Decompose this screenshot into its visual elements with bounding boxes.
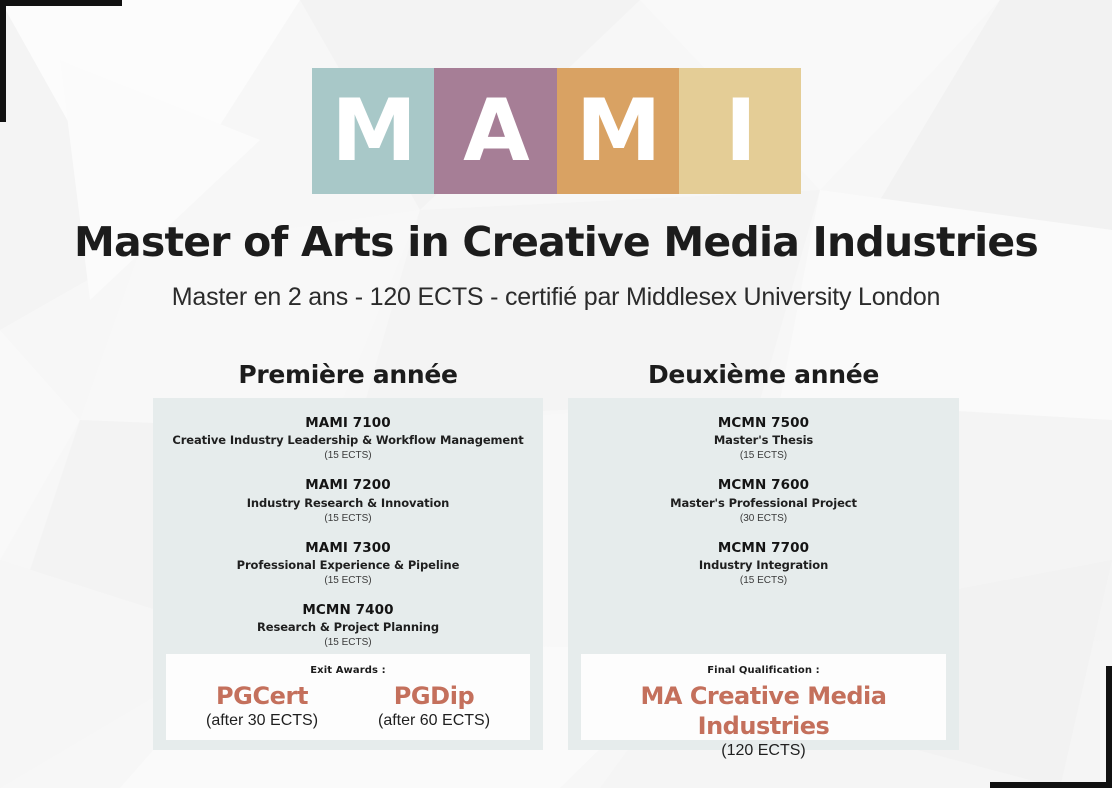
course-name: Creative Industry Leadership & Workflow …: [153, 432, 543, 448]
exit-awards-caption: Exit Awards :: [166, 654, 530, 676]
final-qualification-name: MA Creative Media Industries: [581, 676, 946, 741]
logo-tile-3: M: [557, 68, 679, 194]
exit-awards-row: PGCert (after 30 ECTS) PGDip (after 60 E…: [166, 676, 530, 732]
exit-award-pgcert-name: PGCert: [176, 681, 348, 711]
exit-award-pgdip-name: PGDip: [348, 681, 520, 711]
corner-bracket-bottom-right: [990, 666, 1112, 788]
course-code: MCMN 7600: [568, 476, 959, 494]
course-code: MCMN 7500: [568, 414, 959, 432]
course-entry: MCMN 7400Research & Project Planning(15 …: [153, 601, 543, 650]
exit-award-pgdip-sub: (after 60 ECTS): [348, 711, 520, 732]
course-code: MCMN 7400: [153, 601, 543, 619]
corner-bracket-top-left: [0, 0, 122, 122]
course-name: Professional Experience & Pipeline: [153, 557, 543, 573]
logo-tile-2: A: [434, 68, 556, 194]
course-name: Industry Research & Innovation: [153, 495, 543, 511]
course-ects: (15 ECTS): [153, 511, 543, 526]
logo-tile-1: M: [312, 68, 434, 194]
course-ects: (15 ECTS): [153, 573, 543, 588]
course-entry: MAMI 7200Industry Research & Innovation(…: [153, 476, 543, 525]
course-entry: MCMN 7600Master's Professional Project(3…: [568, 476, 959, 525]
year-1-heading: Première année: [153, 360, 543, 389]
exit-award-pgdip: PGDip (after 60 ECTS): [348, 681, 520, 732]
course-code: MCMN 7700: [568, 539, 959, 557]
exit-award-pgcert-sub: (after 30 ECTS): [176, 711, 348, 732]
course-entry: MAMI 7300Professional Experience & Pipel…: [153, 539, 543, 588]
page-subtitle: Master en 2 ans - 120 ECTS - certifié pa…: [0, 283, 1112, 312]
course-name: Research & Project Planning: [153, 619, 543, 635]
course-code: MAMI 7300: [153, 539, 543, 557]
year-1-course-list: MAMI 7100Creative Industry Leadership & …: [153, 414, 543, 663]
course-ects: (15 ECTS): [568, 448, 959, 463]
final-qualification-sub: (120 ECTS): [581, 741, 946, 762]
slide-canvas: M A M I Master of Arts in Creative Media…: [0, 0, 1112, 788]
course-name: Master's Thesis: [568, 432, 959, 448]
final-qualification-caption: Final Qualification :: [581, 654, 946, 676]
course-code: MAMI 7200: [153, 476, 543, 494]
course-ects: (15 ECTS): [153, 635, 543, 650]
course-name: Industry Integration: [568, 557, 959, 573]
logo-tile-4: I: [679, 68, 801, 194]
course-ects: (30 ECTS): [568, 511, 959, 526]
exit-awards-box: Exit Awards : PGCert (after 30 ECTS) PGD…: [166, 654, 530, 740]
year-2-course-list: MCMN 7500Master's Thesis(15 ECTS)MCMN 76…: [568, 414, 959, 601]
page-title: Master of Arts in Creative Media Industr…: [0, 218, 1112, 266]
exit-award-pgcert: PGCert (after 30 ECTS): [176, 681, 348, 732]
final-qualification-box: Final Qualification : MA Creative Media …: [581, 654, 946, 740]
course-name: Master's Professional Project: [568, 495, 959, 511]
course-entry: MCMN 7500Master's Thesis(15 ECTS): [568, 414, 959, 463]
course-ects: (15 ECTS): [568, 573, 959, 588]
course-entry: MAMI 7100Creative Industry Leadership & …: [153, 414, 543, 463]
year-2-heading: Deuxième année: [568, 360, 959, 389]
mami-logo: M A M I: [312, 68, 801, 194]
course-ects: (15 ECTS): [153, 448, 543, 463]
course-code: MAMI 7100: [153, 414, 543, 432]
course-entry: MCMN 7700Industry Integration(15 ECTS): [568, 539, 959, 588]
